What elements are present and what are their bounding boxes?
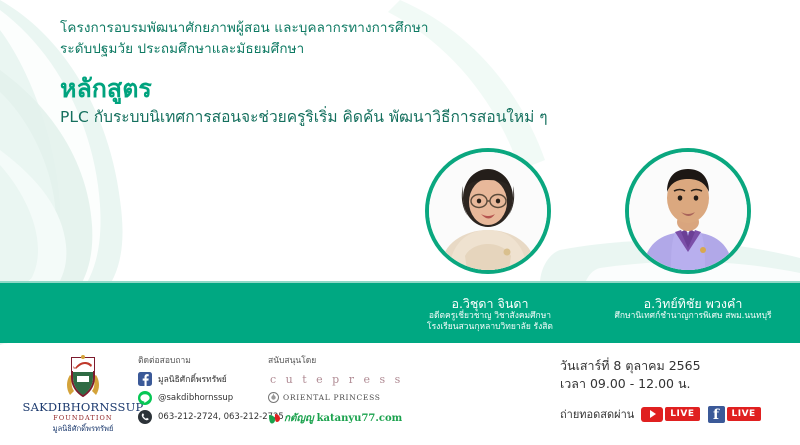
sponsor-cute-press: c u t e p r e s s xyxy=(270,373,458,386)
event-date: วันเสาร์ที่ 8 ตุลาคม 2565 xyxy=(560,357,790,375)
facebook-live-badge[interactable]: f LIVE xyxy=(708,406,761,423)
sponsor-katanyu-thai: กตัญญู xyxy=(284,411,314,426)
broadcast-label: ถ่ายทอดสดผ่าน xyxy=(560,405,634,423)
contact-line-text: @sakdibhornssup xyxy=(158,393,233,403)
contact-block: ติดต่อสอบถาม มูลนิธิศักดิ์พรทรัพย์ @sakd… xyxy=(138,353,268,429)
speaker-2-caption: อ.วิทย์ทิชัย พวงคำ ศึกษานิเทศก์ชำนาญการพ… xyxy=(578,296,800,322)
sponsor-oriental-princess: ORIENTAL PRINCESS xyxy=(268,392,458,403)
foundation-logo-block: SAKDIBHORNSSUP FOUNDATION มูลนิธิศักดิ์พ… xyxy=(18,355,148,435)
speaker-1-org: โรงเรียนสวนกุหลาบวิทยาลัย รังสิต xyxy=(370,322,610,333)
facebook-live-icon[interactable]: f xyxy=(708,406,725,423)
program-line-2: ระดับปฐมวัย ประถมศึกษาและมัธยมศึกษา xyxy=(60,39,620,60)
header-text-block: โครงการอบรมพัฒนาศักยภาพผู้สอน และบุคลากร… xyxy=(60,18,620,128)
portrait-woman-glasses-icon xyxy=(429,152,547,270)
seminar-poster: โครงการอบรมพัฒนาศักยภาพผู้สอน และบุคลากร… xyxy=(0,0,800,445)
foundation-crest-icon xyxy=(62,355,104,399)
facebook-icon[interactable] xyxy=(138,372,152,386)
sponsor-block: สนับสนุนโดย c u t e p r e s s ORIENTAL P… xyxy=(268,353,458,426)
facebook-live-label: LIVE xyxy=(727,407,761,421)
course-label: หลักสูตร xyxy=(60,74,620,104)
oriental-princess-logo-icon xyxy=(268,392,279,403)
course-title: PLC กับระบบนิเทศการสอนจะช่วยครูริเริ่ม ค… xyxy=(60,106,620,128)
youtube-icon[interactable] xyxy=(641,407,663,422)
program-line-1: โครงการอบรมพัฒนาศักยภาพผู้สอน และบุคลากร… xyxy=(60,18,620,39)
speaker-1-photo xyxy=(425,148,551,274)
event-time: เวลา 09.00 - 12.00 น. xyxy=(560,375,790,393)
footer: SAKDIBHORNSSUP FOUNDATION มูลนิธิศักดิ์พ… xyxy=(0,345,800,445)
foundation-name: SAKDIBHORNSSUP xyxy=(18,400,148,414)
sponsor-oriental-princess-text: ORIENTAL PRINCESS xyxy=(283,393,381,402)
line-icon[interactable] xyxy=(138,391,152,405)
sponsor-katanyu-url[interactable]: katanyu77.com xyxy=(317,413,403,424)
foundation-thai-name: มูลนิธิศักดิ์พรทรัพย์ xyxy=(18,423,148,435)
speaker-1-role: อดีตครูเชี่ยวชาญ วิชาสังคมศึกษา xyxy=(370,311,610,322)
facebook-glyph: f xyxy=(713,408,719,423)
youtube-live-label: LIVE xyxy=(665,407,699,421)
speaker-2-photo xyxy=(625,148,751,274)
youtube-live-badge[interactable]: LIVE xyxy=(641,407,699,422)
speaker-1-name: อ.วิชุดา จินดา xyxy=(370,296,610,311)
broadcast-row: ถ่ายทอดสดผ่าน LIVE f LIVE xyxy=(560,405,790,423)
sponsor-katanyu[interactable]: กตัญญู katanyu77.com xyxy=(268,411,458,426)
schedule-block: วันเสาร์ที่ 8 ตุลาคม 2565 เวลา 09.00 - 1… xyxy=(560,357,790,423)
foundation-sub: FOUNDATION xyxy=(18,414,148,422)
speaker-1-caption: อ.วิชุดา จินดา อดีตครูเชี่ยวชาญ วิชาสังค… xyxy=(370,296,610,333)
contact-facebook-text: มูลนิธิศักดิ์พรทรัพย์ xyxy=(158,372,227,386)
contact-facebook-row[interactable]: มูลนิธิศักดิ์พรทรัพย์ xyxy=(138,372,268,386)
portrait-man-suit-icon xyxy=(629,152,747,270)
contact-phone-row[interactable]: 063-212-2724, 063-212-2725 xyxy=(138,410,268,424)
contact-line-row[interactable]: @sakdibhornssup xyxy=(138,391,268,405)
katanyu-leaf-icon xyxy=(268,413,281,425)
contact-phone-text: 063-212-2724, 063-212-2725 xyxy=(158,412,284,422)
sponsor-heading: สนับสนุนโดย xyxy=(268,353,458,367)
speaker-2-name: อ.วิทย์ทิชัย พวงคำ xyxy=(578,296,800,311)
speaker-2-role: ศึกษานิเทศก์ชำนาญการพิเศษ สพม.นนทบุรี xyxy=(578,311,800,322)
phone-icon[interactable] xyxy=(138,410,152,424)
contact-heading: ติดต่อสอบถาม xyxy=(138,353,268,367)
